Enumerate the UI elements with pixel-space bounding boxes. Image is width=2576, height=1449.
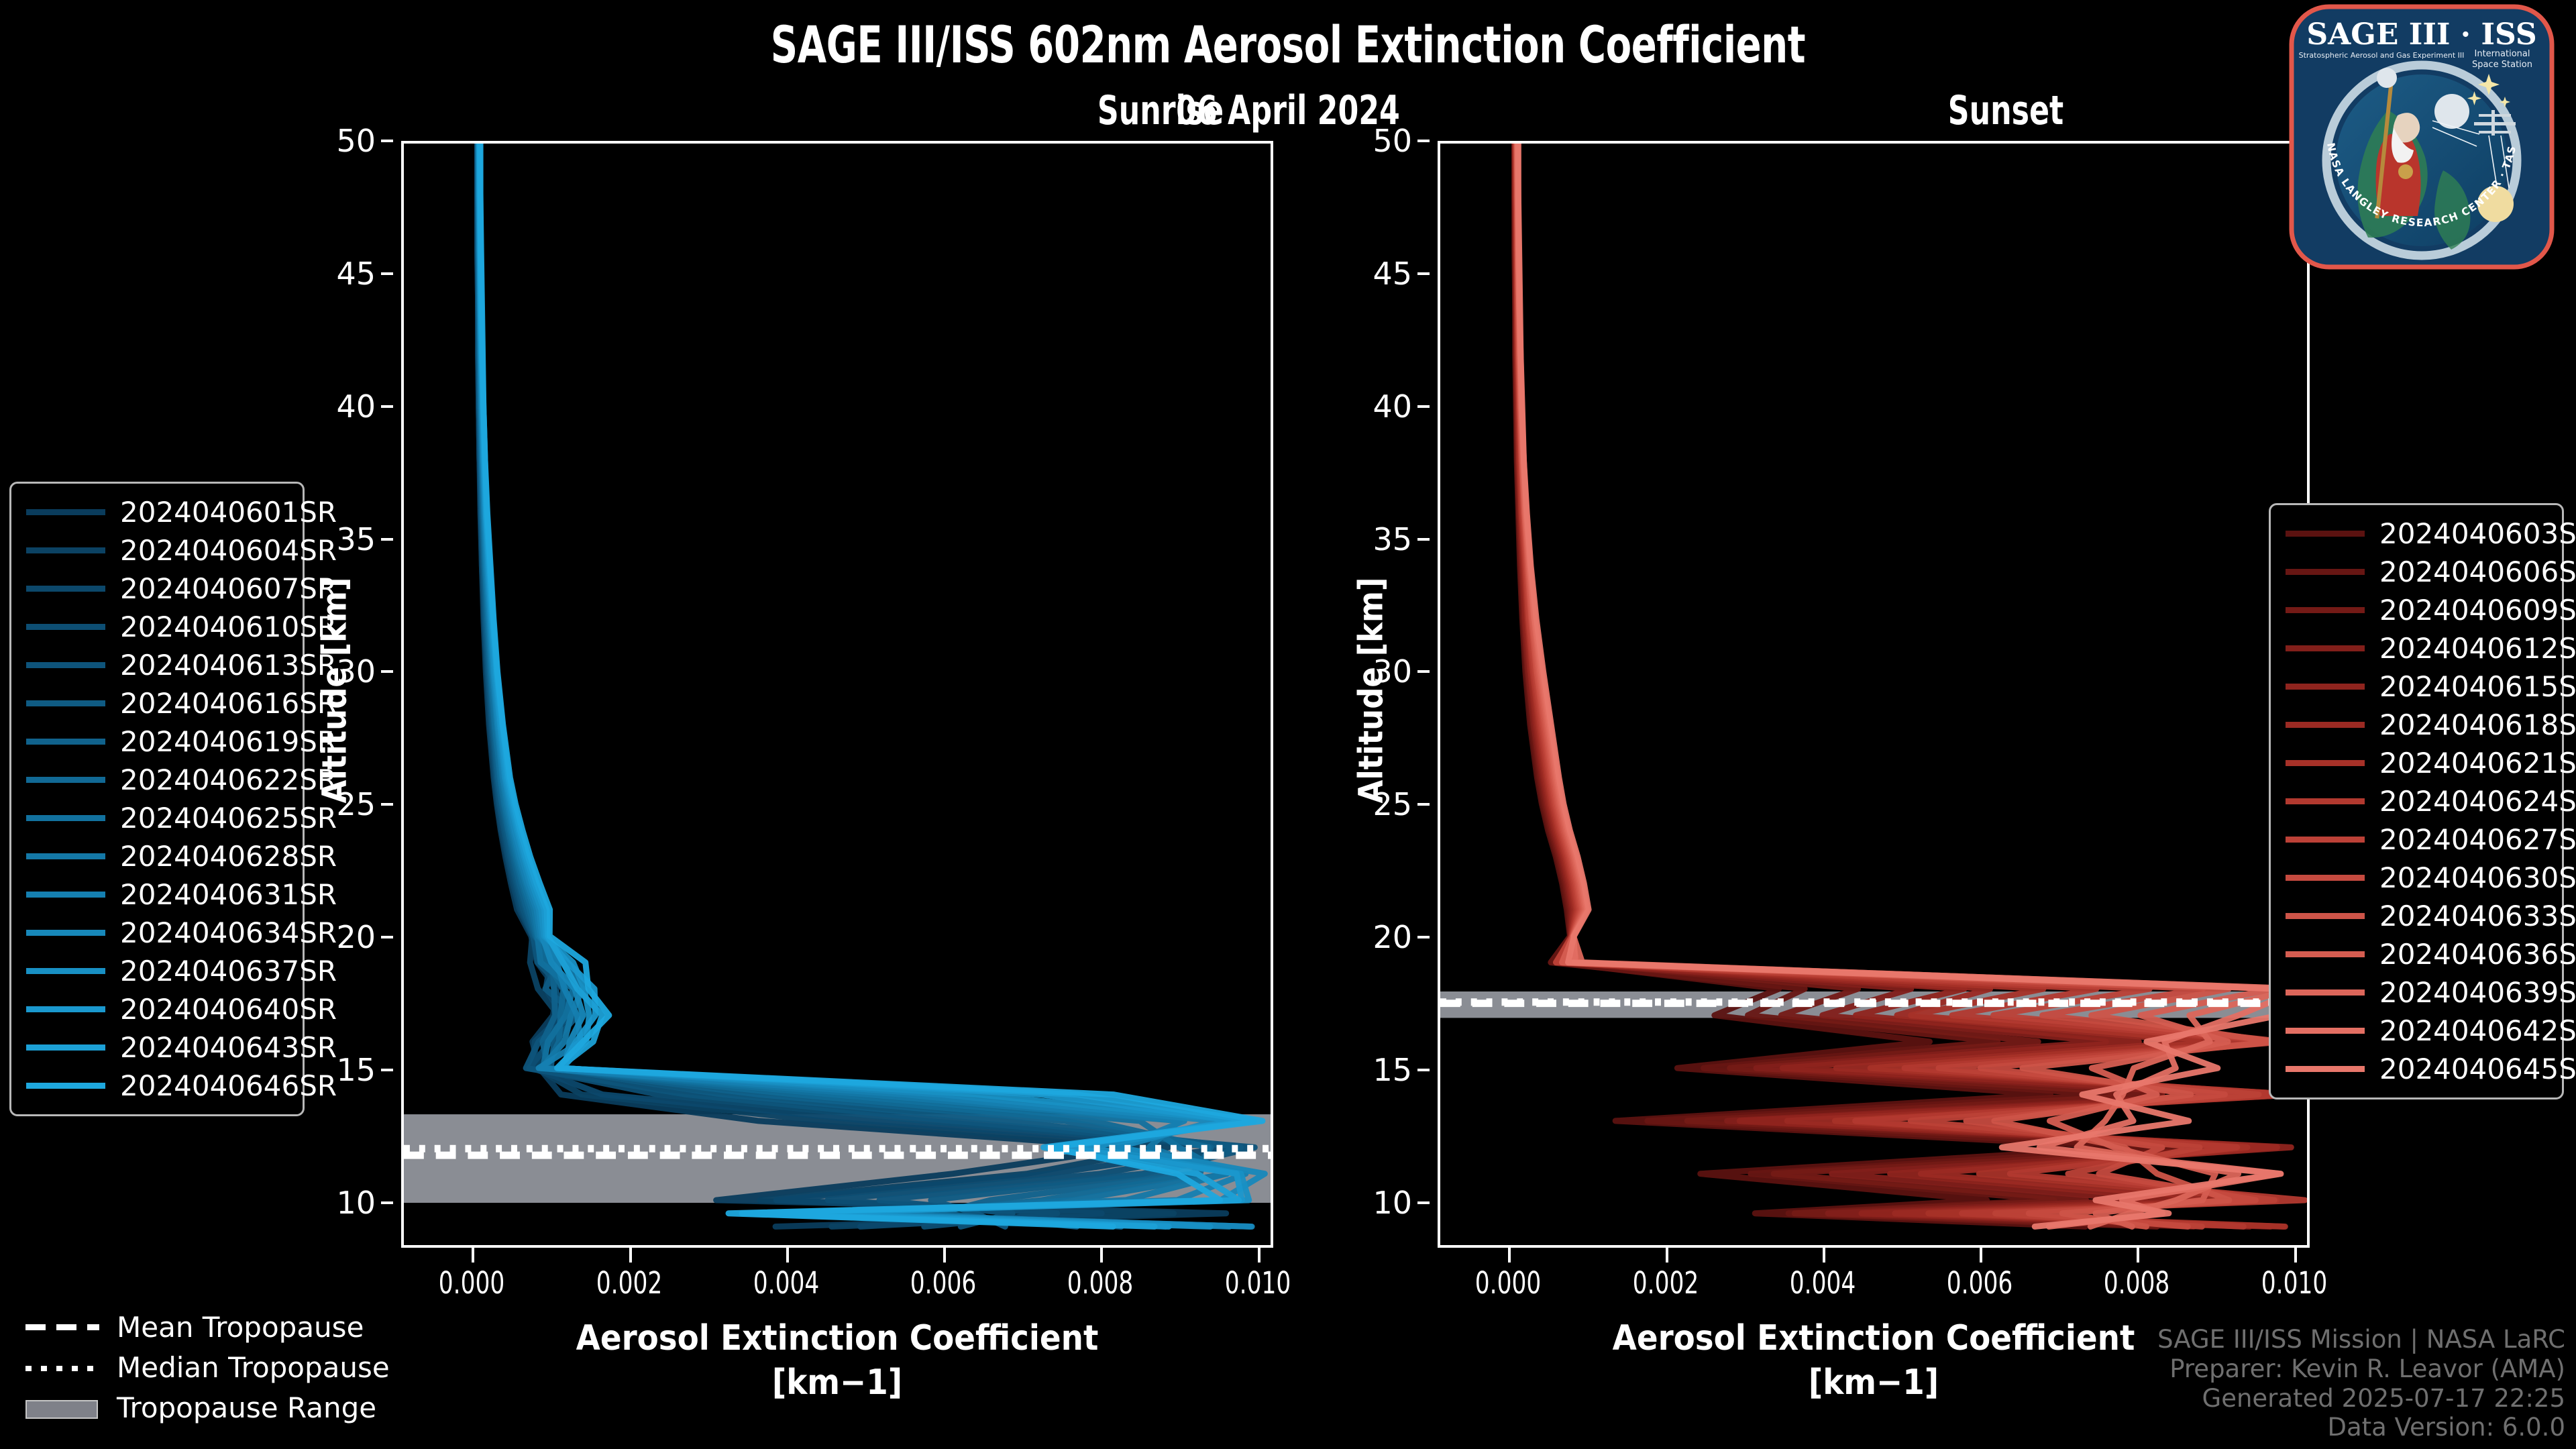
legend-item-label: 2024040625SR — [120, 802, 337, 835]
legend-color-swatch — [2286, 607, 2365, 613]
y-tick-mark — [1417, 936, 1430, 938]
x-tick-label: 0.010 — [2261, 1265, 2326, 1301]
sunrise-plot-panel — [401, 141, 1273, 1248]
legend-item[interactable]: 2024040624SS — [2286, 782, 2547, 820]
legend-item[interactable]: 2024040633SS — [2286, 897, 2547, 935]
x-tick-mark — [1823, 1248, 1825, 1263]
legend-item[interactable]: 2024040646SR — [26, 1067, 288, 1105]
legend-item[interactable]: 2024040640SR — [26, 990, 288, 1028]
y-tick-label: 40 — [1332, 388, 1412, 425]
y-tick-mark — [1417, 1201, 1430, 1204]
y-tick-label: 35 — [1332, 521, 1412, 557]
legend-item-label: 2024040615SS — [2379, 670, 2576, 703]
legend-item[interactable]: 2024040604SR — [26, 531, 288, 570]
legend-item-label: 2024040640SR — [120, 993, 337, 1026]
legend-item[interactable]: 2024040609SS — [2286, 591, 2547, 629]
legend-color-swatch — [26, 815, 105, 821]
page-title: SAGE III/ISS 602nm Aerosol Extinction Co… — [232, 15, 2345, 74]
legend-item[interactable]: 2024040610SR — [26, 608, 288, 646]
y-tick-mark — [381, 538, 393, 541]
legend-item[interactable]: 2024040621SS — [2286, 744, 2547, 782]
x-tick-mark — [2137, 1248, 2139, 1263]
x-tick-label: 0.004 — [753, 1265, 819, 1301]
legend-item[interactable]: 2024040627SS — [2286, 820, 2547, 859]
legend-item-tropopause-range: Tropopause Range — [13, 1387, 362, 1428]
sunset-plot-area — [1440, 144, 2307, 1245]
legend-item[interactable]: 2024040625SR — [26, 799, 288, 837]
range-swatch-icon — [25, 1399, 99, 1416]
legend-item-label: 2024040604SR — [120, 534, 337, 567]
x-tick-label: 0.008 — [1067, 1265, 1133, 1301]
profile-line — [477, 144, 1226, 1226]
legend-color-swatch — [26, 1006, 105, 1012]
legend-item[interactable]: 2024040619SR — [26, 722, 288, 761]
y-tick-mark — [381, 936, 393, 938]
legend-color-swatch — [26, 853, 105, 859]
sunset-profile-lines — [1440, 144, 2307, 1245]
y-tick-mark — [1417, 1069, 1430, 1071]
legend-item[interactable]: 2024040631SR — [26, 875, 288, 914]
x-tick-label: 0.002 — [1632, 1265, 1698, 1301]
legend-item-label: 2024040628SR — [120, 840, 337, 873]
profile-line — [479, 144, 1250, 1226]
logo-subtitle-right-line1: International — [2475, 49, 2530, 59]
sunrise-x-axis: 0.0000.0020.0040.0060.0080.010 — [401, 1248, 1273, 1275]
tropopause-range-label: Tropopause Range — [117, 1391, 376, 1424]
logo-title: SAGE III · ISS — [2306, 17, 2536, 52]
legend-item-label: 2024040618SS — [2379, 708, 2576, 741]
median-tropopause-label: Median Tropopause — [117, 1351, 390, 1384]
sunset-legend[interactable]: 2024040603SS2024040606SS2024040609SS2024… — [2269, 503, 2564, 1099]
y-tick-label: 45 — [295, 256, 376, 292]
legend-item[interactable]: 2024040616SR — [26, 684, 288, 722]
legend-color-swatch — [2286, 760, 2365, 766]
legend-color-swatch — [26, 547, 105, 553]
sunset-plot-panel — [1438, 141, 2310, 1248]
legend-color-swatch — [2286, 1066, 2365, 1072]
profile-line — [480, 144, 1254, 1226]
legend-color-swatch — [26, 930, 105, 936]
legend-color-swatch — [26, 1044, 105, 1051]
footer-line-preparer: Preparer: Kevin R. Leavor (AMA) — [2157, 1354, 2565, 1384]
legend-item[interactable]: 2024040634SR — [26, 914, 288, 952]
legend-item-label: 2024040607SR — [120, 572, 337, 605]
y-tick-mark — [381, 405, 393, 408]
tropopause-legend: Mean Tropopause Median Tropopause Tropop… — [13, 1307, 362, 1428]
legend-item[interactable]: 2024040615SS — [2286, 667, 2547, 706]
sunrise-x-axis-title: Aerosol Extinction Coefficient [km−1] — [401, 1318, 1273, 1403]
legend-color-swatch — [2286, 989, 2365, 996]
legend-item[interactable]: 2024040612SS — [2286, 629, 2547, 667]
legend-item-label: 2024040613SR — [120, 649, 337, 682]
legend-color-swatch — [26, 624, 105, 630]
x-tick-mark — [943, 1248, 946, 1263]
y-tick-mark — [1417, 405, 1430, 408]
y-tick-mark — [381, 1201, 393, 1204]
legend-item-label: 2024040610SR — [120, 610, 337, 643]
profile-line — [479, 144, 1265, 1226]
legend-color-swatch — [2286, 531, 2365, 537]
mean-tropopause-label: Mean Tropopause — [117, 1311, 364, 1344]
legend-item[interactable]: 2024040643SR — [26, 1028, 288, 1067]
x-tick-label: 0.008 — [2104, 1265, 2169, 1301]
x-tick-label: 0.006 — [910, 1265, 976, 1301]
legend-item-label: 2024040646SR — [120, 1069, 337, 1102]
legend-item-label: 2024040616SR — [120, 687, 337, 720]
legend-item[interactable]: 2024040622SR — [26, 761, 288, 799]
x-tick-mark — [1508, 1248, 1511, 1263]
legend-color-swatch — [2286, 722, 2365, 728]
legend-item-label: 2024040627SS — [2379, 823, 2576, 856]
y-tick-label: 15 — [1332, 1052, 1412, 1088]
legend-color-swatch — [2286, 798, 2365, 804]
legend-color-swatch — [2286, 913, 2365, 919]
profile-line — [1516, 144, 2296, 1226]
y-tick-mark — [381, 272, 393, 275]
legend-item-label: 2024040634SR — [120, 916, 337, 949]
legend-color-swatch — [26, 700, 105, 706]
legend-item-label: 2024040624SS — [2379, 785, 2576, 818]
legend-item-label: 2024040601SR — [120, 496, 337, 529]
legend-item[interactable]: 2024040618SS — [2286, 706, 2547, 744]
y-tick-mark — [1417, 272, 1430, 275]
sunrise-legend[interactable]: 2024040601SR2024040604SR2024040607SR2024… — [9, 482, 305, 1116]
legend-item-label: 2024040630SS — [2379, 861, 2576, 894]
profile-line — [480, 144, 1263, 1226]
x-tick-mark — [2294, 1248, 2297, 1263]
legend-item-label: 2024040622SR — [120, 763, 337, 796]
y-tick-label: 50 — [295, 123, 376, 159]
y-tick-mark — [381, 140, 393, 142]
y-tick-mark — [381, 1069, 393, 1071]
x-axis-label-text: Aerosol Extinction Coefficient — [1613, 1318, 2135, 1358]
y-tick-label: 20 — [1332, 919, 1412, 955]
legend-color-swatch — [2286, 837, 2365, 843]
x-tick-label: 0.000 — [1475, 1265, 1541, 1301]
profile-line — [477, 144, 1173, 1226]
x-tick-mark — [629, 1248, 632, 1263]
legend-item[interactable]: 2024040645SS — [2286, 1050, 2547, 1088]
x-tick-label: 0.004 — [1790, 1265, 1856, 1301]
legend-item[interactable]: 2024040601SR — [26, 493, 288, 531]
legend-item-label: 2024040603SS — [2379, 517, 2576, 550]
logo-subtitle-left: Stratospheric Aerosol and Gas Experiment… — [2299, 51, 2465, 60]
profile-line — [478, 144, 1255, 1226]
legend-color-swatch — [26, 968, 105, 974]
y-tick-mark — [1417, 670, 1430, 673]
y-tick-mark — [381, 670, 393, 673]
legend-item[interactable]: 2024040642SS — [2286, 1012, 2547, 1050]
x-axis-unit-text: [km−1] — [401, 1362, 1273, 1403]
sunrise-plot-area — [404, 144, 1271, 1245]
legend-item[interactable]: 2024040639SS — [2286, 973, 2547, 1012]
legend-item-label: 2024040633SS — [2379, 900, 2576, 932]
x-tick-mark — [1258, 1248, 1260, 1263]
footer-line-mission: SAGE III/ISS Mission | NASA LaRC — [2157, 1325, 2565, 1354]
legend-color-swatch — [2286, 951, 2365, 957]
y-tick-mark — [381, 803, 393, 806]
legend-color-swatch — [26, 662, 105, 668]
legend-item[interactable]: 2024040603SS — [2286, 515, 2547, 553]
legend-item-label: 2024040609SS — [2379, 594, 2576, 627]
legend-item-label: 2024040621SS — [2379, 747, 2576, 780]
legend-item-mean-tropopause: Mean Tropopause — [13, 1307, 362, 1347]
legend-item-label: 2024040606SS — [2379, 555, 2576, 588]
profile-line — [480, 144, 1249, 1226]
legend-item-label: 2024040645SS — [2379, 1053, 2576, 1085]
legend-item-label: 2024040631SR — [120, 878, 337, 911]
sunset-y-axis-title: Altitude [km] — [1351, 578, 1390, 804]
legend-item[interactable]: 2024040636SS — [2286, 935, 2547, 973]
y-tick-label: 50 — [1332, 123, 1412, 159]
logo-moon — [2434, 94, 2469, 129]
x-tick-label: 0.000 — [439, 1265, 504, 1301]
footer-line-version: Data Version: 6.0.0 — [2157, 1413, 2565, 1442]
legend-item[interactable]: 2024040607SR — [26, 570, 288, 608]
legend-color-swatch — [2286, 875, 2365, 881]
legend-item-label: 2024040643SR — [120, 1031, 337, 1064]
legend-item[interactable]: 2024040637SR — [26, 952, 288, 990]
profile-line — [480, 144, 1242, 1226]
x-tick-mark — [1100, 1248, 1103, 1263]
x-tick-label: 0.010 — [1224, 1265, 1290, 1301]
x-tick-mark — [1666, 1248, 1668, 1263]
legend-item-label: 2024040636SS — [2379, 938, 2576, 971]
x-axis-label-text: Aerosol Extinction Coefficient — [576, 1318, 1099, 1358]
logo-subtitle-right-line2: Space Station — [2472, 60, 2532, 70]
y-tick-label: 10 — [1332, 1185, 1412, 1221]
legend-item-median-tropopause: Median Tropopause — [13, 1347, 362, 1387]
legend-item[interactable]: 2024040630SS — [2286, 859, 2547, 897]
x-tick-label: 0.002 — [596, 1265, 661, 1301]
y-tick-label: 40 — [295, 388, 376, 425]
legend-item-label: 2024040642SS — [2379, 1014, 2576, 1047]
legend-color-swatch — [26, 586, 105, 592]
y-tick-mark — [1417, 803, 1430, 806]
dotted-line-icon — [25, 1358, 99, 1376]
legend-item-label: 2024040612SS — [2379, 632, 2576, 665]
legend-item-label: 2024040619SR — [120, 725, 337, 758]
profile-line — [477, 144, 1228, 1226]
y-tick-mark — [1417, 140, 1430, 142]
legend-color-swatch — [2286, 569, 2365, 575]
legend-color-swatch — [26, 739, 105, 745]
footer-credits: SAGE III/ISS Mission | NASA LaRC Prepare… — [2157, 1325, 2565, 1442]
legend-color-swatch — [26, 1083, 105, 1089]
y-tick-label: 10 — [295, 1185, 376, 1221]
x-tick-mark — [786, 1248, 789, 1263]
profile-line — [478, 144, 1209, 1226]
profile-line — [477, 144, 1245, 1226]
profile-line — [479, 144, 1227, 1226]
legend-color-swatch — [2286, 645, 2365, 651]
y-tick-mark — [1417, 538, 1430, 541]
legend-color-swatch — [2286, 1028, 2365, 1034]
legend-color-swatch — [26, 509, 105, 515]
legend-color-swatch — [2286, 684, 2365, 690]
sage-iii-iss-mission-patch-logo: SAGE III · ISS Stratospheric Aerosol and… — [2288, 3, 2556, 271]
sunset-x-axis: 0.0000.0020.0040.0060.0080.010 — [1438, 1248, 2310, 1275]
legend-color-swatch — [26, 892, 105, 898]
x-tick-mark — [1980, 1248, 1982, 1263]
profile-line — [478, 144, 1241, 1226]
footer-line-generated: Generated 2025-07-17 22:25 — [2157, 1384, 2565, 1413]
sunrise-profile-lines — [404, 144, 1271, 1245]
legend-color-swatch — [26, 777, 105, 783]
x-tick-mark — [472, 1248, 474, 1263]
legend-item[interactable]: 2024040613SR — [26, 646, 288, 684]
profile-line — [478, 144, 1211, 1226]
legend-item-label: 2024040639SS — [2379, 976, 2576, 1009]
profile-line — [479, 144, 1230, 1226]
dashed-line-icon — [25, 1318, 99, 1336]
legend-item[interactable]: 2024040628SR — [26, 837, 288, 875]
y-tick-label: 45 — [1332, 256, 1412, 292]
x-tick-label: 0.006 — [1947, 1265, 2012, 1301]
legend-item[interactable]: 2024040606SS — [2286, 553, 2547, 591]
legend-item-label: 2024040637SR — [120, 955, 337, 987]
